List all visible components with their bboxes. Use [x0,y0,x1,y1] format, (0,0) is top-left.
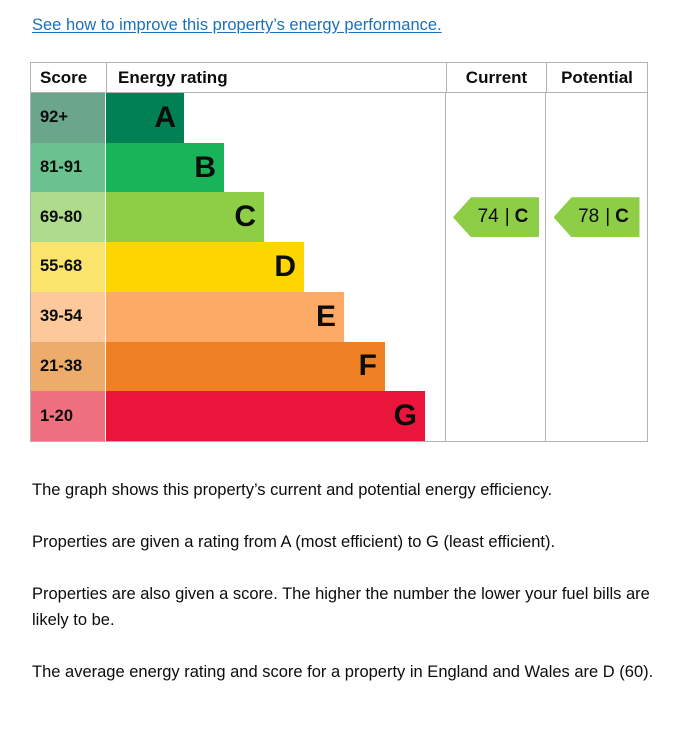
band-row-d: 55-68D [31,242,647,292]
band-score-range-c: 69-80 [31,192,105,242]
header-current: Current [446,63,546,92]
band-row-a: 92+A [31,93,647,143]
paragraph-3: Properties are also given a score. The h… [32,581,656,633]
band-score-range-g: 1-20 [31,391,105,441]
band-bar-d: D [106,242,304,292]
column-separator-potential [545,93,546,441]
potential-rating-badge: 78 | C [554,197,640,237]
current-rating-cell: 74 | C [446,192,546,242]
band-bar-g: G [106,391,425,441]
band-rows: 92+A81-91B69-80C55-68D39-54E21-38F1-20G [31,93,647,441]
band-letter-e: E [316,302,336,332]
header-energy-rating: Energy rating [106,63,445,92]
band-row-f: 21-38F [31,342,647,392]
band-row-b: 81-91B [31,143,647,193]
band-score-range-b: 81-91 [31,143,105,193]
band-bar-f: F [106,342,385,392]
band-bar-c: C [106,192,264,242]
paragraph-2: Properties are given a rating from A (mo… [32,529,656,555]
header-potential: Potential [546,63,647,92]
current-separator: | [505,206,510,228]
band-score-range-a: 92+ [31,93,105,143]
explanatory-text: The graph shows this property’s current … [32,477,656,685]
paragraph-4: The average energy rating and score for … [32,659,656,685]
band-bar-e: E [106,292,344,342]
current-score-value: 74 [478,206,499,228]
band-bar-a: A [106,93,184,143]
band-row-e: 39-54E [31,292,647,342]
current-rating-letter: C [515,206,529,228]
band-bar-b: B [106,143,224,193]
potential-score-value: 78 [578,206,599,228]
chart-header-row: Score Energy rating Current Potential [31,63,647,93]
band-letter-g: G [394,401,417,431]
band-letter-c: C [234,202,256,232]
improve-energy-performance-link[interactable]: See how to improve this property’s energ… [32,14,442,36]
column-separator-current [445,93,446,441]
potential-rating-cell: 78 | C [546,192,647,242]
band-letter-d: D [274,252,296,282]
band-letter-b: B [194,153,216,183]
paragraph-1: The graph shows this property’s current … [32,477,656,503]
band-letter-a: A [154,103,176,133]
potential-separator: | [605,206,610,228]
band-letter-f: F [359,351,377,381]
potential-rating-letter: C [615,206,629,228]
energy-rating-chart: Score Energy rating Current Potential 92… [30,62,648,442]
current-rating-badge: 74 | C [453,197,539,237]
band-score-range-e: 39-54 [31,292,105,342]
band-row-g: 1-20G [31,391,647,441]
band-score-range-f: 21-38 [31,342,105,392]
band-score-range-d: 55-68 [31,242,105,292]
header-score: Score [31,63,105,92]
